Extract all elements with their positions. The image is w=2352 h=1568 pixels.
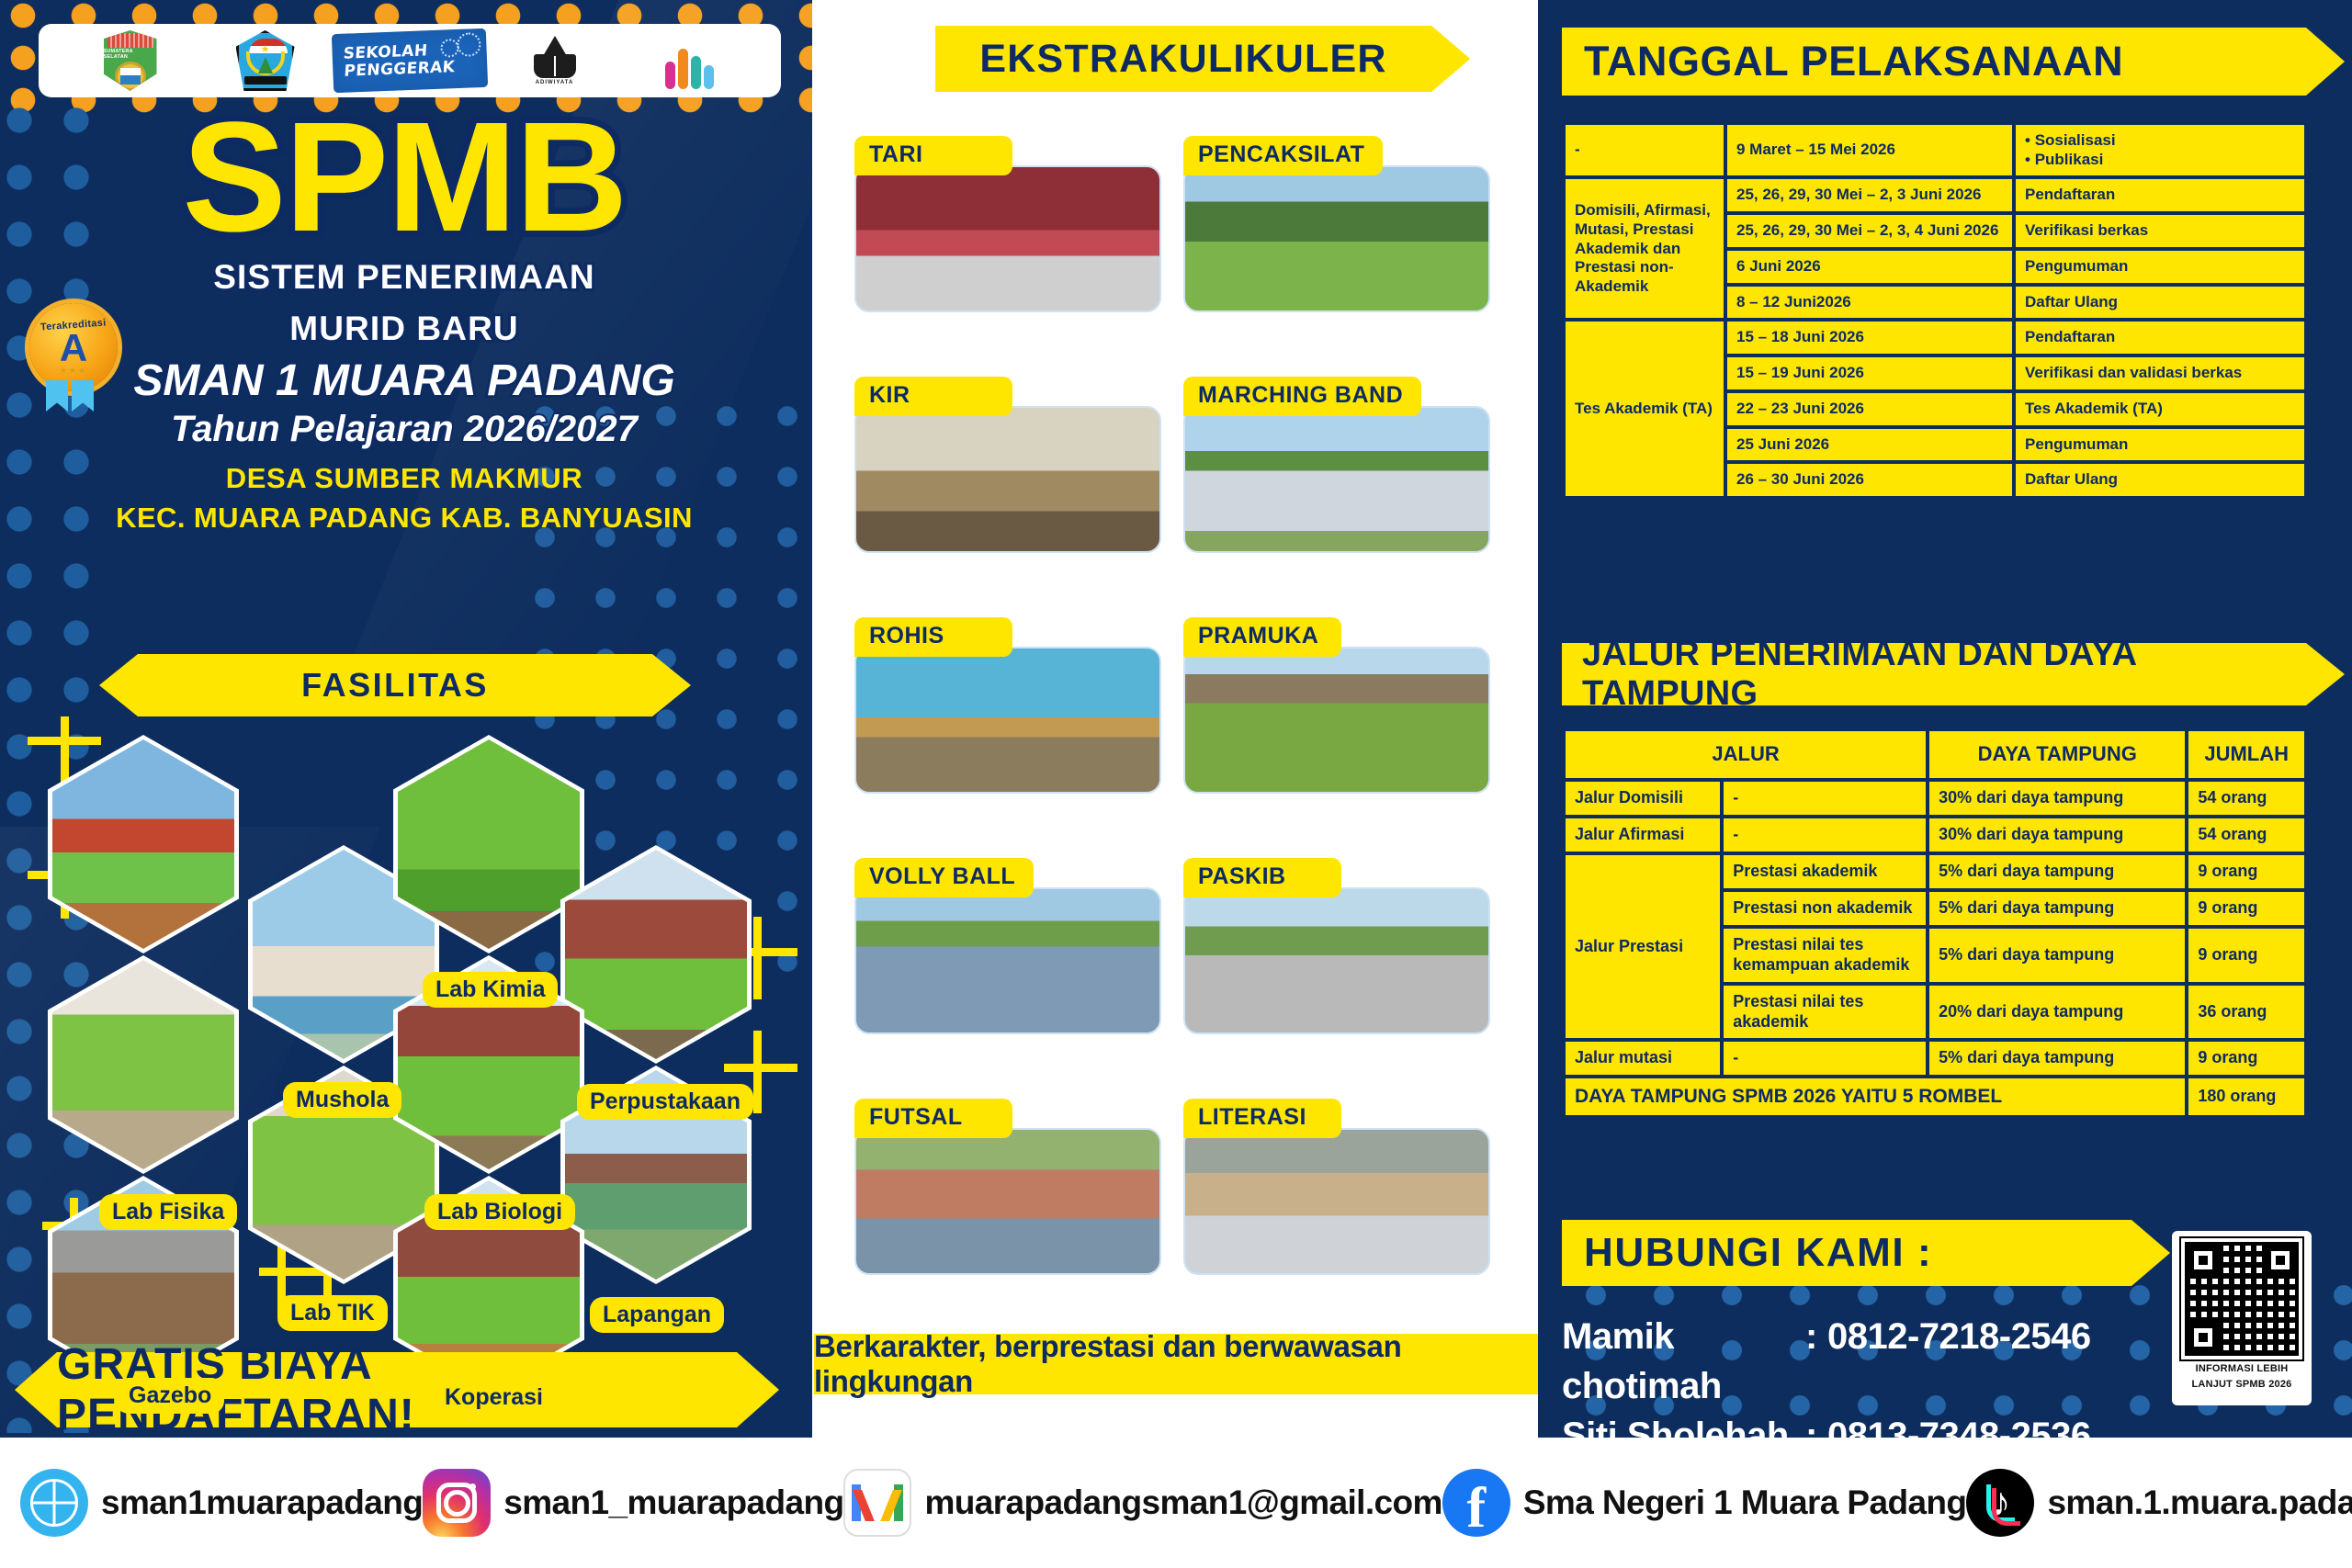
qr-code-icon xyxy=(2181,1238,2302,1359)
jalur-jumlah: 9 orang xyxy=(2188,929,2304,982)
ekskul-photo xyxy=(854,1128,1161,1275)
facility-photo xyxy=(52,960,234,1169)
footer-item-tiktok[interactable]: ♪ sman.1.muara.padang xyxy=(1966,1469,2352,1537)
emblem-caption: SUMATERA SELATAN xyxy=(104,49,157,60)
jalur-sub: - xyxy=(1724,782,1926,815)
jalur-jumlah: 9 orang xyxy=(2188,1042,2304,1075)
ekskul-label-kir: KIR xyxy=(854,377,1012,416)
jalur-sub: Prestasi nilai tes kemampuan akademik xyxy=(1724,929,1926,982)
table-row: Jalur Afirmasi - 30% dari daya tampung 5… xyxy=(1566,818,2304,852)
schedule-kegiatan: Tes Akademik (TA) xyxy=(2016,393,2304,425)
globe-icon xyxy=(20,1469,88,1537)
footer-item-website[interactable]: sman1muarapadang xyxy=(20,1469,423,1537)
roof-shape xyxy=(107,33,153,48)
footer-text-tiktok: sman.1.muara.padang xyxy=(2047,1483,2352,1522)
school-name: SMAN 1 MUARA PADANG xyxy=(0,356,808,406)
schedule-kegiatan-item: Sosialisasi xyxy=(2025,131,2295,151)
poster-root: SUMATERA SELATAN ★ SEKOLAH PENGGERAK ADI… xyxy=(0,0,2352,1568)
schedule-kegiatan: Pendaftaran xyxy=(2016,179,2304,211)
ekskul-photo xyxy=(1183,406,1490,553)
academic-year: Tahun Pelajaran 2026/2027 xyxy=(0,409,808,450)
schedule-kegiatan: Daftar Ulang xyxy=(2016,287,2304,319)
leaf-icon xyxy=(543,36,567,56)
jalur-name: Jalur mutasi xyxy=(1566,1042,1720,1075)
ekskul-photo xyxy=(1183,1128,1490,1275)
jalur-jumlah: 9 orang xyxy=(2188,892,2304,925)
ekskul-label-pramuka: PRAMUKA xyxy=(1183,617,1341,657)
schedule-kegiatan-item: Publikasi xyxy=(2025,151,2295,170)
facility-label-lapangan: Lapangan xyxy=(590,1297,724,1333)
jalur-total-label: DAYA TAMPUNG SPMB 2026 YAITU 5 ROMBEL xyxy=(1566,1078,2185,1115)
footer-item-instagram[interactable]: sman1_muarapadang xyxy=(423,1469,843,1537)
facility-hex xyxy=(48,955,239,1174)
ekskul-card: TARI xyxy=(854,165,1161,312)
hero-subtitle-line2: MURID BARU xyxy=(0,309,808,349)
page-title: SPMB xyxy=(0,108,808,246)
facility-label-lab-kimia: Lab Kimia xyxy=(423,972,558,1008)
jalur-jumlah: 36 orang xyxy=(2188,986,2304,1039)
school-motto-text: Berkarakter, berprestasi dan berwawasan … xyxy=(814,1329,1538,1399)
facility-label-gazebo: Gazebo xyxy=(116,1378,224,1414)
ekskul-label-futsal: FUTSAL xyxy=(854,1099,1012,1138)
qr-caption-line1: INFORMASI LEBIH xyxy=(2196,1363,2289,1375)
jalur-jumlah: 54 orang xyxy=(2188,782,2304,815)
facility-hex xyxy=(560,845,752,1064)
ekskul-photo xyxy=(854,887,1161,1034)
schedule-tanggal: 6 Juni 2026 xyxy=(1727,251,2012,283)
table-row: Jalur mutasi - 5% dari daya tampung 9 or… xyxy=(1566,1042,2304,1075)
table-row: Tes Akademik (TA) 15 – 18 Juni 2026 Pend… xyxy=(1566,321,2304,354)
district-name: KEC. MUARA PADANG KAB. BANYUASIN xyxy=(0,502,808,535)
left-column: SUMATERA SELATAN ★ SEKOLAH PENGGERAK ADI… xyxy=(0,0,808,1438)
sekolah-penggerak-logo: SEKOLAH PENGGERAK xyxy=(332,28,488,93)
ekskul-card: PENCAKSILAT xyxy=(1183,165,1490,312)
jalur-name: Jalur Prestasi xyxy=(1566,855,1720,1039)
ekskul-photo xyxy=(854,406,1161,553)
fasilitas-banner-label: FASILITAS xyxy=(301,666,489,705)
logo-slot: ADIWIYATA xyxy=(487,30,622,91)
facilities-hex-grid: Mushola Lab Kimia Perpustakaan Lab Fisik… xyxy=(28,728,790,1325)
tick-mark xyxy=(753,1031,762,1113)
ekskul-label-paskib: PASKIB xyxy=(1183,858,1341,897)
logo-slot: SEKOLAH PENGGERAK xyxy=(333,31,487,90)
footer-text-website: sman1muarapadang xyxy=(101,1483,423,1522)
footer-text-instagram: sman1_muarapadang xyxy=(503,1483,843,1522)
table-row: Jalur Prestasi Prestasi akademik 5% dari… xyxy=(1566,855,2304,888)
jalur-daya: 5% dari daya tampung xyxy=(1929,1042,2185,1075)
adiwiyata-logo: ADIWIYATA xyxy=(526,30,584,91)
table-row: - 9 Maret – 15 Mei 2026 Sosialisasi Publ… xyxy=(1566,125,2304,175)
schedule-tanggal: 15 – 18 Juni 2026 xyxy=(1727,321,2012,354)
contact-name: Mamik chotimah xyxy=(1562,1312,1805,1411)
book-icon xyxy=(534,54,576,78)
footer-text-facebook: Sma Negeri 1 Muara Padang xyxy=(1523,1483,1967,1522)
schedule-kegiatan: Verifikasi berkas xyxy=(2016,215,2304,247)
sumatera-selatan-emblem: SUMATERA SELATAN xyxy=(104,30,157,91)
jalur-table: JALUR DAYA TAMPUNG JUMLAH Jalur Domisili… xyxy=(1562,728,2308,1119)
schedule-kegiatan: Pengumuman xyxy=(2016,429,2304,461)
schedule-kegiatan: Pendaftaran xyxy=(2016,321,2304,354)
ekskul-photo xyxy=(854,165,1161,312)
hero-subtitle-line1: SISTEM PENERIMAAN xyxy=(0,257,808,298)
ekskul-banner: EKSTRAKULIKULER xyxy=(935,26,1431,92)
schedule-kegiatan: Daftar Ulang xyxy=(2016,464,2304,496)
tut-wuri-handayani-logo: ★ xyxy=(236,30,295,91)
ekskul-photo xyxy=(1183,887,1490,1034)
jalur-daya: 30% dari daya tampung xyxy=(1929,818,2185,852)
ekskul-label-literasi: LITERASI xyxy=(1183,1099,1341,1138)
footer-item-email[interactable]: muarapadangsman1@gmail.com xyxy=(843,1469,1442,1537)
adiwiyata-caption: ADIWIYATA xyxy=(536,80,574,85)
facility-label-lab-tik: Lab TIK xyxy=(277,1295,388,1331)
jalur-jumlah: 54 orang xyxy=(2188,818,2304,852)
ekskul-photo xyxy=(1183,647,1490,794)
social-footer: sman1muarapadang sman1_muarapadang muara… xyxy=(0,1438,2352,1568)
ekskul-card: PASKIB xyxy=(1183,887,1490,1034)
ekskul-label-marching-band: MARCHING BAND xyxy=(1183,377,1421,416)
schedule-kegiatan: Sosialisasi Publikasi xyxy=(2016,125,2304,175)
facility-photo xyxy=(565,850,747,1059)
jalur-banner: JALUR PENERIMAAN DAN DAYA TAMPUNG xyxy=(1562,643,2306,705)
contact-separator: : xyxy=(1805,1312,1827,1411)
logo-slot xyxy=(622,32,757,89)
facility-label-lab-biologi: Lab Biologi xyxy=(424,1194,575,1230)
ekskul-banner-label: EKSTRAKULIKULER xyxy=(979,37,1386,82)
jalur-daya: 5% dari daya tampung xyxy=(1929,855,2185,888)
tick-mark xyxy=(753,917,762,999)
schedule-tanggal: 9 Maret – 15 Mei 2026 xyxy=(1727,125,2012,175)
schedule-tanggal: 22 – 23 Juni 2026 xyxy=(1727,393,2012,425)
jalur-sub: Prestasi non akademik xyxy=(1724,892,1926,925)
logo-bar: SUMATERA SELATAN ★ SEKOLAH PENGGERAK ADI… xyxy=(39,24,781,97)
facility-label-lab-fisika: Lab Fisika xyxy=(99,1194,237,1230)
jalur-daya: 20% dari daya tampung xyxy=(1929,986,2185,1039)
schedule-banner: TANGGAL PELAKSANAAN xyxy=(1562,28,2306,96)
table-header-row: JALUR DAYA TAMPUNG JUMLAH xyxy=(1566,731,2304,778)
contact-banner-label: HUBUNGI KAMI : xyxy=(1584,1230,1932,1276)
facility-label-koperasi: Koperasi xyxy=(432,1380,556,1416)
logo-slot: ★ xyxy=(198,30,333,91)
facility-label-perpustakaan: Perpustakaan xyxy=(577,1084,753,1120)
emblem-seal xyxy=(115,62,146,91)
footer-item-facebook[interactable]: f Sma Negeri 1 Muara Padang xyxy=(1442,1469,1967,1537)
footer-text-email: muarapadangsman1@gmail.com xyxy=(924,1483,1442,1522)
penggerak-line2: PENGGERAK xyxy=(344,58,488,81)
ekskul-label-volly-ball: VOLLY BALL xyxy=(854,858,1034,897)
jalur-banner-label: JALUR PENERIMAAN DAN DAYA TAMPUNG xyxy=(1582,635,2306,714)
ekskul-label-pencaksilat: PENCAKSILAT xyxy=(1183,136,1383,175)
facebook-icon: f xyxy=(1442,1469,1510,1537)
village-name: DESA SUMBER MAKMUR xyxy=(0,462,808,495)
jalur-total-value: 180 orang xyxy=(2188,1078,2304,1115)
schedule-table: - 9 Maret – 15 Mei 2026 Sosialisasi Publ… xyxy=(1562,121,2308,500)
ekskul-card: LITERASI xyxy=(1183,1128,1490,1275)
table-row: Domisili, Afirmasi, Mutasi, Prestasi Aka… xyxy=(1566,179,2304,211)
schedule-kegiatan: Pengumuman xyxy=(2016,251,2304,283)
ekskul-card: KIR xyxy=(854,406,1161,553)
jalur-sub: Prestasi akademik xyxy=(1724,855,1926,888)
schedule-kegiatan: Verifikasi dan validasi berkas xyxy=(2016,357,2304,389)
ekskul-card: PRAMUKA xyxy=(1183,647,1490,794)
jalur-name: Jalur Domisili xyxy=(1566,782,1720,815)
school-motto: Berkarakter, berprestasi dan berwawasan … xyxy=(814,1334,1538,1394)
jalur-daya: 5% dari daya tampung xyxy=(1929,892,2185,925)
jalur-header-jumlah: JUMLAH xyxy=(2188,731,2304,778)
ekskul-card: VOLLY BALL xyxy=(854,887,1161,1034)
schedule-tanggal: 15 – 19 Juni 2026 xyxy=(1727,357,2012,389)
jalur-jumlah: 9 orang xyxy=(2188,855,2304,888)
qr-code-block[interactable]: INFORMASI LEBIH LANJUT SPMB 2026 xyxy=(2172,1231,2312,1405)
schedule-jalur: Tes Akademik (TA) xyxy=(1566,321,1724,496)
motto-band xyxy=(244,76,287,85)
facility-photo xyxy=(52,739,234,949)
schedule-tanggal: 25 Juni 2026 xyxy=(1727,429,2012,461)
ekskul-photo xyxy=(1183,165,1490,312)
jalur-sub: - xyxy=(1724,1042,1926,1075)
hero-title-block: SPMB SISTEM PENERIMAAN MURID BARU SMAN 1… xyxy=(0,108,808,535)
facility-label-mushola: Mushola xyxy=(283,1082,401,1118)
schedule-tanggal: 25, 26, 29, 30 Mei – 2, 3 Juni 2026 xyxy=(1727,179,2012,211)
ekskul-label-rohis: ROHIS xyxy=(854,617,1012,657)
ekskul-card: FUTSAL xyxy=(854,1128,1161,1275)
jalur-sub: Prestasi nilai tes akademik xyxy=(1724,986,1926,1039)
ekskul-card: MARCHING BAND xyxy=(1183,406,1490,553)
facility-hex xyxy=(48,735,239,953)
jalur-header-jalur: JALUR xyxy=(1566,731,1926,778)
table-row: Jalur Domisili - 30% dari daya tampung 5… xyxy=(1566,782,2304,815)
ekskul-card: ROHIS xyxy=(854,647,1161,794)
instagram-icon xyxy=(423,1469,491,1537)
schedule-tanggal: 26 – 30 Juni 2026 xyxy=(1727,464,2012,496)
logo-slot: SUMATERA SELATAN xyxy=(62,30,198,91)
schedule-tanggal: 25, 26, 29, 30 Mei – 2, 3, 4 Juni 2026 xyxy=(1727,215,2012,247)
contact-row: Mamik chotimah : 0812-7218-2546 xyxy=(1562,1312,2141,1411)
jalur-header-daya: DAYA TAMPUNG xyxy=(1929,731,2185,778)
schedule-jalur: Domisili, Afirmasi, Mutasi, Prestasi Aka… xyxy=(1566,179,1724,318)
qr-caption-line2: LANJUT SPMB 2026 xyxy=(2192,1379,2292,1391)
schedule-jalur: - xyxy=(1566,125,1724,175)
ekskul-photo xyxy=(854,647,1161,794)
ekskul-label-tari: TARI xyxy=(854,136,1012,175)
fasilitas-banner: FASILITAS xyxy=(138,654,652,716)
jalur-daya: 30% dari daya tampung xyxy=(1929,782,2185,815)
jalur-daya: 5% dari daya tampung xyxy=(1929,929,2185,982)
jalur-sub: - xyxy=(1724,818,1926,852)
contact-phone: 0812-7218-2546 xyxy=(1827,1312,2091,1411)
schedule-banner-label: TANGGAL PELAKSANAAN xyxy=(1584,38,2123,85)
tiktok-icon: ♪ xyxy=(1966,1469,2034,1537)
merdeka-belajar-logo xyxy=(661,32,718,89)
gmail-icon xyxy=(843,1469,911,1537)
jalur-name: Jalur Afirmasi xyxy=(1566,818,1720,852)
schedule-tanggal: 8 – 12 Juni2026 xyxy=(1727,287,2012,319)
table-row: DAYA TAMPUNG SPMB 2026 YAITU 5 ROMBEL 18… xyxy=(1566,1078,2304,1115)
tree-shape xyxy=(258,57,273,73)
contact-banner: HUBUNGI KAMI : xyxy=(1562,1220,2131,1286)
